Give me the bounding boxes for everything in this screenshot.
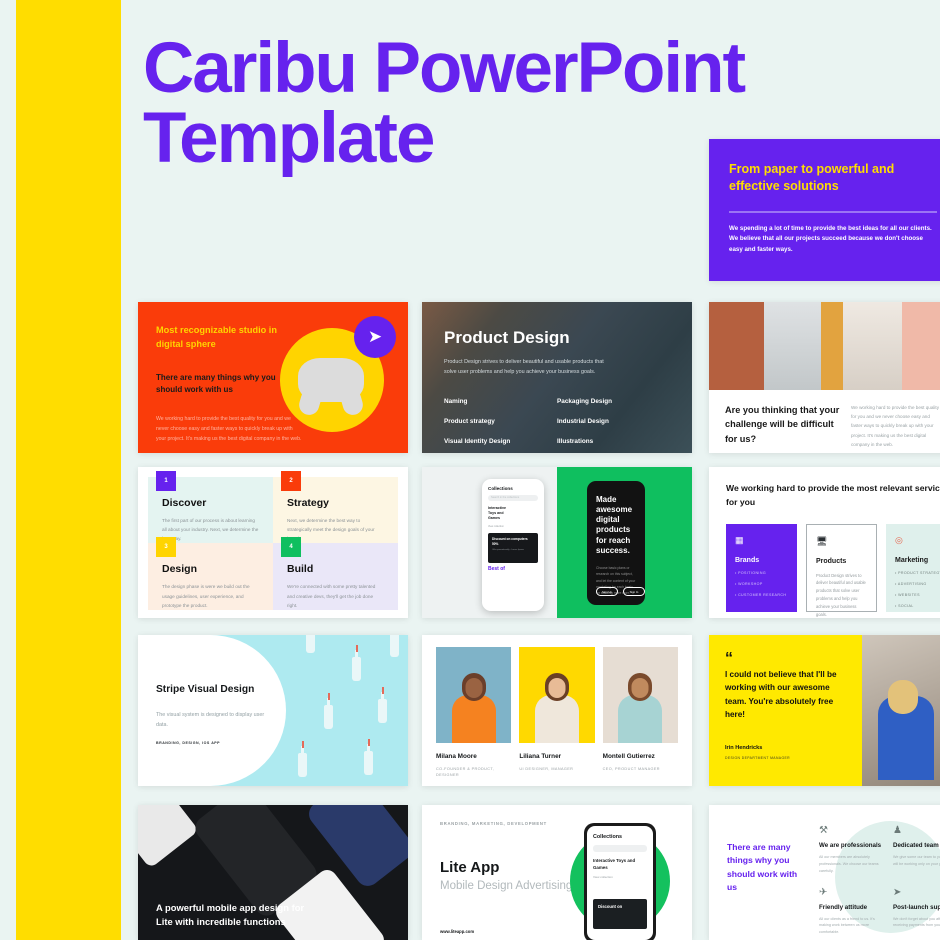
list-item: Illustrations: [557, 438, 670, 445]
product-design-right-list: Packaging Design Industrial Design Illus…: [557, 398, 670, 453]
feature-body: We don't forget about you after receivin…: [893, 916, 940, 930]
avatar: [519, 647, 594, 743]
step-body: The design phase is were we build out th…: [162, 582, 259, 609]
rocket-icon: ➤: [893, 887, 940, 898]
list-item: Packaging Design: [557, 398, 670, 405]
phone-right-title: Made awesome digital products for reach …: [596, 495, 636, 556]
phone-image: [138, 805, 199, 869]
hero-title: From paper to powerful and effective sol…: [729, 161, 937, 196]
member-role: CO-FOUNDER & PRODUCT, DESIGNER: [436, 766, 511, 779]
screen-search-field[interactable]: [593, 845, 647, 852]
feature-body: All our clients as a friend to us. It's …: [819, 916, 883, 937]
service-item: • PRODUCT STRATEGY: [895, 571, 940, 575]
testimonial-quote: I could not believe that I'll be working…: [725, 668, 846, 721]
slide-hero-purple[interactable]: From paper to powerful and effective sol…: [709, 139, 940, 281]
service-title: Marketing: [895, 557, 940, 564]
step-cell-strategy: 2 Strategy Next, we determine the best w…: [273, 477, 398, 543]
step-body: Next, we determine the best way to strat…: [287, 516, 384, 543]
target-icon: ◎: [895, 535, 940, 546]
feature-title: We are professionals: [819, 842, 883, 849]
step-badge: 3: [156, 537, 176, 557]
service-item: • ADVERTISING: [895, 582, 940, 586]
avatar: [603, 647, 678, 743]
mobile-app-heading: A powerful mobile app design for Lite wi…: [156, 901, 316, 930]
feature-body: All our members are absolutely professio…: [819, 854, 883, 875]
stripe-body: The visual system is designed to display…: [156, 710, 266, 731]
service-card-products[interactable]: 🖥 Products Product Design strives to del…: [806, 524, 877, 612]
member-role: CEO, PRODUCT MANAGER: [603, 766, 678, 772]
service-item: • SOCIAL: [895, 604, 940, 608]
feature-item: ♟ Dedicated team We give some our team t…: [893, 825, 940, 875]
member-name: Liliana Turner: [519, 753, 594, 760]
lite-app-url[interactable]: www.liteapp.com: [440, 929, 474, 934]
slide-product-design[interactable]: Product Design Product Design strives to…: [422, 302, 692, 453]
member-role: UI DESIGNER, MANAGER: [519, 766, 594, 772]
gamepad-image: [298, 358, 364, 402]
slide-challenge[interactable]: Are you thinking that your challenge wil…: [709, 302, 940, 453]
phone-footer-label: Best of: [488, 566, 538, 572]
product-design-left-list: Naming Product strategy Visual Identity …: [444, 398, 557, 453]
layers-icon: ▦: [735, 535, 788, 546]
service-card-marketing[interactable]: ◎ Marketing • PRODUCT STRATEGY • ADVERTI…: [886, 524, 940, 612]
feature-item: ⚒ We are professionals All our members a…: [819, 825, 883, 875]
service-item: • WORKSHOP: [735, 582, 788, 586]
phone-mockup-right: Made awesome digital products for reach …: [587, 481, 645, 605]
signup-button[interactable]: Sign Up: [596, 587, 618, 596]
slide-services[interactable]: We working hard to provide the most rele…: [709, 467, 940, 618]
step-title: Strategy: [287, 497, 384, 509]
phone-promo-sub: Offer promotionally - Lorem lipsum: [492, 549, 534, 551]
slide-process-steps[interactable]: 1 Discover The first part of our process…: [138, 467, 408, 618]
hero-body: We spending a lot of time to provide the…: [729, 224, 937, 257]
studio-body: We working hard to provide the best qual…: [156, 414, 304, 444]
services-heading: We working hard to provide the most rele…: [726, 482, 940, 510]
service-item: • POSITIONING: [735, 571, 788, 575]
list-item: Visual Identity Design: [444, 438, 557, 445]
phone-card-title: Interactive Toys and Games: [488, 506, 514, 521]
phone-screen-title: Collections: [488, 486, 538, 491]
slide-studio[interactable]: ➤ Most recognizable studio in digital sp…: [138, 302, 408, 453]
step-title: Discover: [162, 497, 259, 509]
list-item: Naming: [444, 398, 557, 405]
feature-title: Dedicated team: [893, 842, 940, 849]
hero-divider: [729, 211, 937, 213]
challenge-heading: Are you thinking that your challenge wil…: [725, 403, 843, 449]
member-name: Milana Moore: [436, 753, 511, 760]
step-body: The first part of our process is about l…: [162, 516, 259, 543]
challenge-body: We working hard to provide the best qual…: [851, 403, 940, 449]
screen-title: Collections: [593, 834, 647, 840]
feature-item: ➤ Post-launch support We don't forget ab…: [893, 887, 940, 937]
stripe-tags: BRANDING, DESIGN, IOS APP: [156, 741, 266, 745]
left-yellow-bar: [16, 0, 121, 940]
slide-phone-mockups[interactable]: Collections Search in the collections In…: [422, 467, 692, 618]
monitor-icon: 🖥: [816, 536, 867, 547]
team-icon: ♟: [893, 825, 940, 836]
slide-testimonial[interactable]: “ I could not believe that I'll be worki…: [709, 635, 940, 786]
service-title: Products: [816, 558, 867, 565]
phone-search-field[interactable]: Search in the collections: [488, 495, 538, 501]
slide-team[interactable]: Milana Moore CO-FOUNDER & PRODUCT, DESIG…: [422, 635, 692, 786]
features-heading: There are many things why you should wor…: [727, 841, 801, 894]
service-title: Brands: [735, 557, 788, 564]
testimonial-author-role: DESIGN DEPARTMENT MANAGER: [725, 756, 790, 760]
feature-item: ✈ Friendly attitude All our clients as a…: [819, 887, 883, 937]
slide-mobile-app[interactable]: A powerful mobile app design for Lite wi…: [138, 805, 408, 940]
studio-eyebrow: Most recognizable studio in digital sphe…: [156, 324, 304, 352]
screen-promo: Discount on: [598, 904, 642, 910]
step-cell-build: 4 Build We're connected with some pretty…: [273, 543, 398, 609]
photo-strip: [709, 302, 940, 390]
phone-card-link[interactable]: View collection: [488, 525, 538, 528]
phone-mockup-left: Collections Search in the collections In…: [482, 479, 544, 611]
team-member: Montell Gutierrez CEO, PRODUCT MANAGER: [603, 647, 678, 779]
testimonial-author: Irin Hendricks: [725, 745, 790, 751]
member-name: Montell Gutierrez: [603, 753, 678, 760]
step-badge: 2: [281, 471, 301, 491]
graduation-cap-icon: ⚒: [819, 825, 883, 836]
screen-card-link[interactable]: View collection: [593, 875, 647, 879]
step-body: We're connected with some pretty talente…: [287, 582, 384, 609]
service-card-brands[interactable]: ▦ Brands • POSITIONING • WORKSHOP • CUST…: [726, 524, 797, 612]
step-title: Design: [162, 563, 259, 575]
service-body: Product Design strives to deliver beauti…: [816, 572, 867, 619]
product-design-subtitle: Product Design strives to deliver beauti…: [444, 357, 604, 378]
step-cell-discover: 1 Discover The first part of our process…: [148, 477, 273, 543]
feature-body: We give some our team to you which will …: [893, 854, 940, 868]
service-item: • CUSTOMER RESEARCH: [735, 593, 788, 597]
list-item: Industrial Design: [557, 418, 670, 425]
feature-title: Post-launch support: [893, 904, 940, 911]
step-badge: 4: [281, 537, 301, 557]
avatar: [436, 647, 511, 743]
handshake-icon: ✈: [819, 887, 883, 898]
service-item: • WEBSITES: [895, 593, 940, 597]
rocket-icon: ➤: [354, 316, 396, 358]
step-title: Build: [287, 563, 384, 575]
slide-lite-app[interactable]: Collections Interactive Toys and Games V…: [422, 805, 692, 940]
list-item: Product strategy: [444, 418, 557, 425]
quote-mark-icon: “: [725, 653, 846, 664]
slide-features[interactable]: There are many things why you should wor…: [709, 805, 940, 940]
phone-mockup: Collections Interactive Toys and Games V…: [584, 823, 656, 940]
testimonial-photo: [862, 635, 940, 786]
signin-button[interactable]: Sign In: [623, 587, 645, 596]
team-member: Liliana Turner UI DESIGNER, MANAGER: [519, 647, 594, 779]
slide-stripe-visual-design[interactable]: Stripe Visual Design The visual system i…: [138, 635, 408, 786]
step-cell-design: 3 Design The design phase is were we bui…: [148, 543, 273, 609]
stripe-title: Stripe Visual Design: [156, 683, 266, 698]
screen-card-title: Interactive Toys and Games: [593, 858, 647, 871]
studio-subhead: There are many things why you should wor…: [156, 372, 304, 396]
phone-promo-title: Discount on computers 50%: [492, 537, 534, 546]
team-member: Milana Moore CO-FOUNDER & PRODUCT, DESIG…: [436, 647, 511, 779]
feature-title: Friendly attitude: [819, 904, 883, 911]
product-design-title: Product Design: [444, 328, 670, 348]
step-badge: 1: [156, 471, 176, 491]
